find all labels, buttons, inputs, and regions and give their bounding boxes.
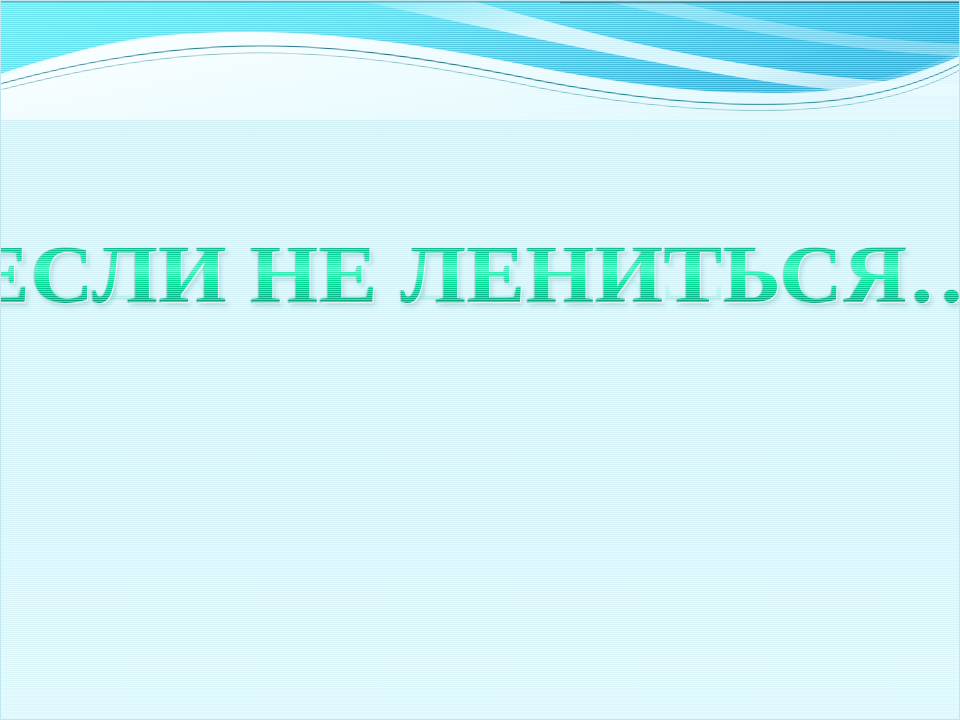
page-title: ЕСЛИ НЕ ЛЕНИТЬСЯ…	[0, 232, 960, 316]
banner-artwork	[0, 0, 960, 120]
title-block: ЕСЛИ НЕ ЛЕНИТЬСЯ… ЕСЛИ НЕ ЛЕНИТЬСЯ…	[0, 196, 960, 426]
aqua-wave-banner	[0, 0, 960, 120]
presentation-slide: ЕСЛИ НЕ ЛЕНИТЬСЯ… ЕСЛИ НЕ ЛЕНИТЬСЯ…	[0, 0, 960, 720]
